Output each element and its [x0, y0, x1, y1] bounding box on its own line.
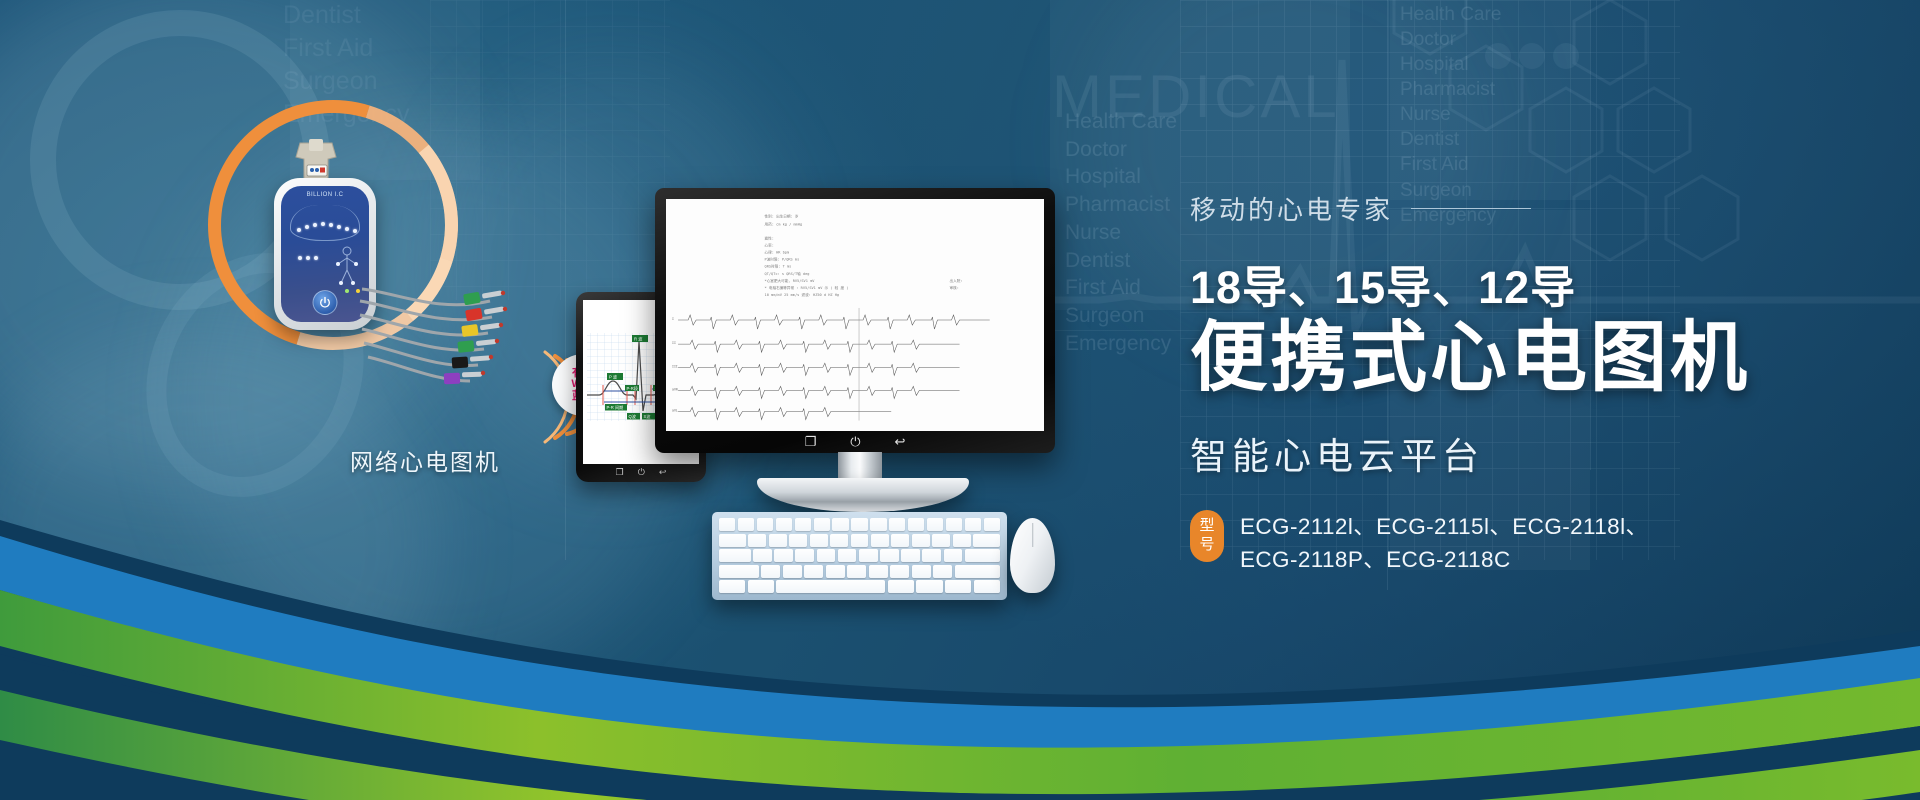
svg-text:QT/QTc: s QRS/: QT/QTc: s QRS/T轴 deg [765, 271, 810, 276]
device-screen-face: BILLION I.C [281, 186, 369, 322]
ecg-report-document: 性别: 出生日期: 岁 用药: cm kg / mmHg 窦性: 心率: 心律:… [666, 199, 1044, 431]
device-power-button[interactable] [313, 290, 338, 315]
kicker-row: 移动的心电专家 [1190, 190, 1890, 227]
svg-text:*心室肥大可能, RV5/SV1 mV: *心室肥大可能, RV5/SV1 mV [765, 278, 816, 283]
svg-text:P 波: P 波 [609, 374, 618, 381]
product-banner: MEDICAL Health Care Doctor Hospital Phar… [0, 0, 1920, 800]
model-list: ECG-2112l、ECG-2115l、ECG-2118l、 ECG-2118P… [1240, 510, 1648, 578]
kicker-text: 移动的心电专家 [1190, 190, 1393, 227]
svg-text:心律: HR: 心律: HR bpm [765, 250, 790, 255]
model-badge: 型 号 [1190, 510, 1224, 562]
svg-text:审核:: 审核: [950, 285, 959, 290]
svg-text:aVL: aVL [672, 409, 678, 413]
power-icon [319, 296, 332, 309]
svg-text:心率:: 心率: [765, 243, 774, 248]
desktop-monitor: 性别: 出生日期: 岁 用药: cm kg / mmHg 窦性: 心率: 心律:… [655, 188, 1055, 453]
svg-text:Q波: Q波 [629, 413, 637, 420]
ghost-word-column: Health Care Doctor Hospital Pharmacist N… [1065, 108, 1177, 357]
svg-text:出入院:: 出入院: [950, 278, 963, 283]
headline-block: 移动的心电专家 18导、15导、12导 便携式心电图机 智能心电云平台 型 号 … [1190, 190, 1890, 577]
headline-leads: 18导、15导、12导 [1190, 251, 1890, 316]
model-list-line2: ECG-2118P、ECG-2118C [1240, 543, 1648, 577]
subline: 智能心电云平台 [1190, 426, 1890, 480]
svg-text:R 波: R 波 [634, 336, 643, 343]
svg-text:性别: 出生日期: 岁: 性别: 出生日期: 岁 [765, 213, 799, 218]
device-brand-label: BILLION I.C [281, 192, 369, 198]
svg-text:10 mm/mV 25 mm/s 滤波: HZ50: 10 mm/mV 25 mm/s 滤波: HZ50 d HZ Hg [765, 292, 840, 297]
monitor-screen: 性别: 出生日期: 岁 用药: cm kg / mmHg 窦性: 心率: 心律:… [666, 199, 1044, 431]
model-list-line1: ECG-2112l、ECG-2115l、ECG-2118l、 [1240, 510, 1648, 544]
svg-text:P-R段: P-R段 [627, 385, 639, 392]
svg-text:S波: S波 [644, 413, 652, 420]
svg-text:* 电轴右偏等异常 : RV5/SV1 mV: * 电轴右偏等异常 : RV5/SV1 mV 示 ( 轻 度 ) [765, 285, 849, 290]
ecg-lead-wires [358, 283, 508, 403]
model-badge-line1: 型 [1199, 517, 1214, 536]
torso-outline-icon [290, 205, 360, 241]
svg-text:P-R 间期: P-R 间期 [607, 404, 624, 411]
svg-text:窦性:: 窦性: [765, 236, 774, 241]
svg-text:I: I [672, 317, 674, 321]
svg-text:用药: cm kg /: 用药: cm kg / mmHg [765, 222, 803, 227]
svg-text:QRS时限: T m: QRS时限: T ms [765, 264, 792, 269]
svg-text:aVR: aVR [672, 387, 678, 391]
model-badge-line2: 号 [1199, 536, 1214, 555]
svg-text:III: III [672, 364, 678, 368]
headline-main: 便携式心电图机 [1190, 318, 1890, 400]
model-row: 型 号 ECG-2112l、ECG-2115l、ECG-2118l、 ECG-2… [1190, 510, 1890, 578]
svg-text:II: II [672, 341, 676, 345]
svg-text:P波时限: P/QRS: P波时限: P/QRS ms [765, 257, 800, 262]
kicker-rule [1411, 208, 1531, 209]
